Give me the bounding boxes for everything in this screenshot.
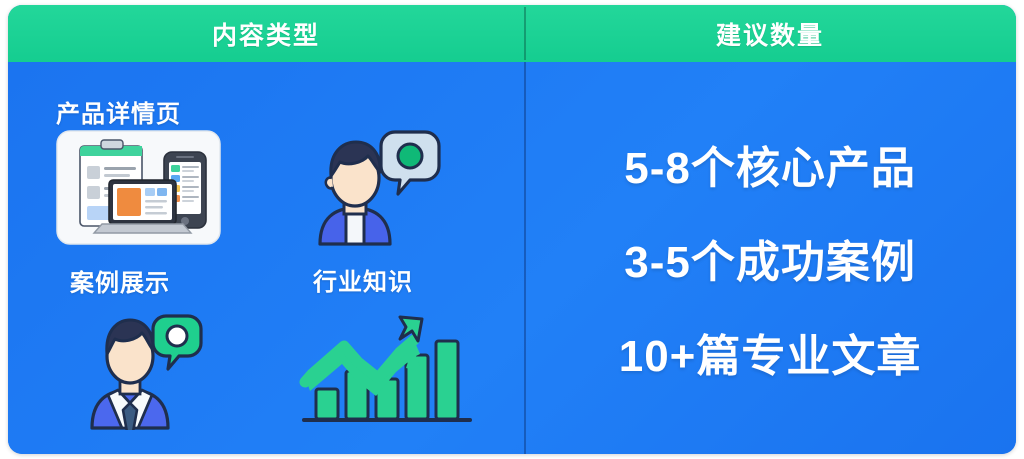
header-content-type: 内容类型 (8, 5, 524, 62)
table-body: 产品详情页 (8, 62, 1016, 454)
person-speech-bubble-icon (310, 124, 445, 249)
suggested-quantity-column: 5-8个核心产品 3-5个成功案例 10+篇专业文章 (524, 62, 1016, 454)
devices-product-page-icon (56, 130, 221, 245)
label-case-showcase: 案例展示 (70, 263, 170, 298)
quantity-professional-articles: 10+篇专业文章 (619, 320, 922, 384)
content-suggestion-table: 内容类型 建议数量 产品详情页 (8, 5, 1016, 454)
quantity-core-products: 5-8个核心产品 (624, 132, 916, 196)
header-content-type-label: 内容类型 (212, 16, 320, 52)
header-suggested-quantity-label: 建议数量 (716, 16, 824, 52)
header-column-divider (524, 7, 526, 60)
quantity-success-cases: 3-5个成功案例 (624, 226, 916, 290)
businessman-speech-bubble-icon (86, 300, 211, 430)
label-product-detail-page: 产品详情页 (56, 94, 181, 129)
header-suggested-quantity: 建议数量 (524, 5, 1016, 62)
growth-bar-chart-arrow-icon (296, 307, 476, 432)
label-industry-knowledge: 行业知识 (313, 262, 413, 297)
content-type-column: 产品详情页 (8, 62, 524, 454)
table-header-row: 内容类型 建议数量 (8, 5, 1016, 62)
